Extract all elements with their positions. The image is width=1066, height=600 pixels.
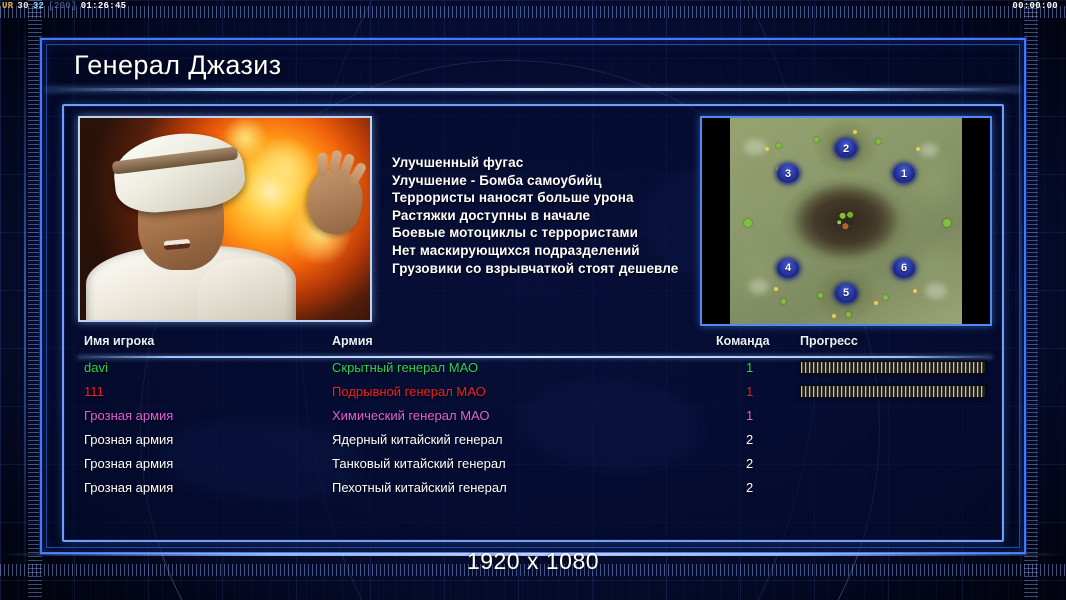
table-row[interactable]: 111Подрывной генерал МАО1 [78,380,992,404]
bonus-item: Боевые мотоциклы с террористами [392,224,700,242]
cell-player-name: Грозная армия [84,408,173,423]
general-bonus-list: Улучшенный фугас Улучшение - Бомба самоу… [372,116,700,328]
status-value-2: 32 [31,0,46,13]
cell-team: 2 [746,432,753,447]
cell-player-name: Грозная армия [84,480,173,495]
start-position-label: 4 [785,262,791,274]
cell-army: Танковый китайский генерал [332,456,506,471]
cell-player-name: 111 [84,384,104,399]
header-army: Армия [332,334,373,348]
map-image: 1 2 3 4 5 6 [730,118,962,324]
ruler-right [1024,0,1038,600]
title-divider [46,88,1020,91]
status-clock: 00:00:00 [1010,0,1066,13]
start-position-label: 5 [843,287,849,299]
cell-army: Химический генерал МАО [332,408,490,423]
game-lobby-screen: UR 30 32 [200] 01:26:45 00:00:00 Генерал… [0,0,1066,600]
status-bar: UR 30 32 [200] 01:26:45 00:00:00 [0,0,1066,13]
start-position-label: 1 [901,168,907,180]
cell-team: 1 [746,360,753,375]
bonus-item: Растяжки доступны в начале [392,207,700,225]
general-portrait [78,116,372,322]
status-value-3: [200] [46,0,79,13]
bonus-item: Нет маскирующихся подразделений [392,242,700,260]
cell-player-name: davi [84,360,108,375]
cell-progress-bar [800,385,986,398]
start-position-3[interactable]: 3 [777,164,799,183]
bonus-item: Грузовики со взрывчаткой стоят дешевле [392,260,700,278]
header-team: Команда [716,334,770,348]
header-player: Имя игрока [84,334,154,348]
bonus-item: Улучшенный фугас [392,154,700,172]
start-position-label: 2 [843,143,849,155]
cell-team: 2 [746,456,753,471]
start-position-label: 3 [785,168,791,180]
player-table: Имя игрока Армия Команда Прогресс daviСк… [78,334,992,532]
table-row[interactable]: Грозная армияЯдерный китайский генерал2 [78,428,992,452]
table-row[interactable]: Грозная армияТанковый китайский генерал2 [78,452,992,476]
resolution-label: 1920 x 1080 [467,548,599,575]
status-session-timer: 01:26:45 [79,0,129,13]
bonus-item: Улучшение - Бомба самоубийц [392,172,700,190]
resolution-bar: 1920 x 1080 [0,544,1066,578]
page-title: Генерал Джазиз [46,50,282,81]
content-panel: Улучшенный фугас Улучшение - Бомба самоу… [62,104,1004,542]
map-preview[interactable]: 1 2 3 4 5 6 [700,116,992,326]
general-info-row: Улучшенный фугас Улучшение - Бомба самоу… [78,116,992,328]
table-row[interactable]: Грозная армияХимический генерал МАО1 [78,404,992,428]
title-bar: Генерал Джазиз [46,42,1020,88]
start-position-6[interactable]: 6 [893,259,915,278]
table-body: daviСкрытный генерал МАО1111Подрывной ге… [78,356,992,500]
cell-army: Ядерный китайский генерал [332,432,503,447]
cell-army: Пехотный китайский генерал [332,480,507,495]
start-position-label: 6 [901,262,907,274]
cell-team: 2 [746,480,753,495]
cell-army: Скрытный генерал МАО [332,360,478,375]
start-position-4[interactable]: 4 [777,259,799,278]
map-center-resources [829,208,863,234]
start-position-5[interactable]: 5 [835,284,857,303]
cell-progress-bar [800,361,986,374]
status-value-1: 30 [15,0,30,13]
bonus-item: Террористы наносят больше урона [392,189,700,207]
cell-army: Подрывной генерал МАО [332,384,486,399]
cell-player-name: Грозная армия [84,432,173,447]
header-progress: Прогресс [800,334,858,348]
portrait-image [80,118,370,320]
cell-team: 1 [746,408,753,423]
status-label: UR [0,0,15,13]
table-row[interactable]: Грозная армияПехотный китайский генерал2 [78,476,992,500]
cell-player-name: Грозная армия [84,456,173,471]
table-row[interactable]: daviСкрытный генерал МАО1 [78,356,992,380]
start-position-1[interactable]: 1 [893,164,915,183]
robe-shape [198,258,286,322]
table-header: Имя игрока Армия Команда Прогресс [78,334,992,356]
cell-team: 1 [746,384,753,399]
